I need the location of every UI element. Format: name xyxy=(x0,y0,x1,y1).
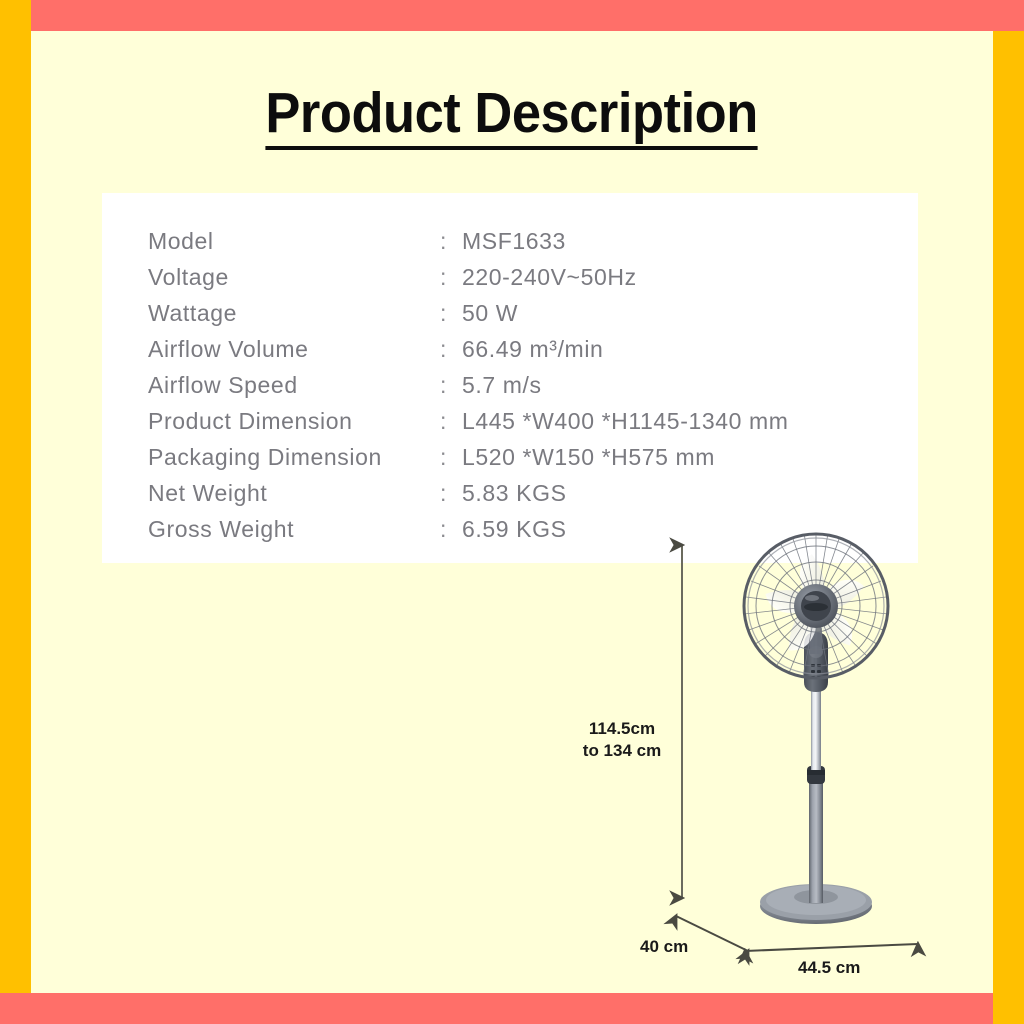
fan-head xyxy=(744,532,888,683)
spec-value: 50 W xyxy=(462,295,789,331)
spec-value: L520 *W150 *H575 mm xyxy=(462,439,789,475)
spec-label: Model xyxy=(148,223,440,259)
depth-dimension-label: 40 cm xyxy=(640,936,688,958)
spec-separator: : xyxy=(440,511,462,547)
frame-corner-bottom-left xyxy=(0,993,31,1024)
spec-value: 220-240V~50Hz xyxy=(462,259,789,295)
table-row: Packaging Dimension : L520 *W150 *H575 m… xyxy=(148,439,789,475)
frame-band-top xyxy=(0,0,1024,31)
spec-label: Packaging Dimension xyxy=(148,439,440,475)
spec-label: Net Weight xyxy=(148,475,440,511)
spec-separator: : xyxy=(440,295,462,331)
spec-separator: : xyxy=(440,439,462,475)
spec-separator: : xyxy=(440,475,462,511)
spec-separator: : xyxy=(440,403,462,439)
frame-corner-bottom-right xyxy=(993,993,1024,1024)
page-title-text: Product Description xyxy=(266,84,758,150)
table-row: Net Weight : 5.83 KGS xyxy=(148,475,789,511)
specification-card: Model : MSF1633 Voltage : 220-240V~50Hz … xyxy=(102,193,918,563)
spec-label: Airflow Speed xyxy=(148,367,440,403)
spec-separator: : xyxy=(440,223,462,259)
specification-table: Model : MSF1633 Voltage : 220-240V~50Hz … xyxy=(148,223,789,547)
page-title: Product Description xyxy=(0,84,1024,150)
product-description-page: Product Description Model : MSF1633 Volt… xyxy=(0,0,1024,1024)
table-row: Gross Weight : 6.59 KGS xyxy=(148,511,789,547)
spec-separator: : xyxy=(440,259,462,295)
spec-separator: : xyxy=(440,367,462,403)
frame-corner-top-right xyxy=(993,0,1024,31)
spec-separator: : xyxy=(440,331,462,367)
width-dimension-line xyxy=(745,944,918,951)
frame-corner-top-left xyxy=(0,0,31,31)
table-row: Wattage : 50 W xyxy=(148,295,789,331)
stand-fan-illustration xyxy=(716,528,916,928)
height-dimension-line1: 114.5cm xyxy=(589,719,655,738)
fan-pole-lower xyxy=(809,778,823,903)
spec-value: L445 *W400 *H1145-1340 mm xyxy=(462,403,789,439)
table-row: Model : MSF1633 xyxy=(148,223,789,259)
frame-band-bottom xyxy=(0,993,1024,1024)
spec-label: Airflow Volume xyxy=(148,331,440,367)
spec-value: 5.7 m/s xyxy=(462,367,789,403)
table-row: Airflow Volume : 66.49 m³/min xyxy=(148,331,789,367)
frame-band-right xyxy=(993,0,1024,1024)
spec-label: Product Dimension xyxy=(148,403,440,439)
frame-band-left xyxy=(0,0,31,1024)
spec-label: Wattage xyxy=(148,295,440,331)
spec-value: 66.49 m³/min xyxy=(462,331,789,367)
table-row: Voltage : 220-240V~50Hz xyxy=(148,259,789,295)
fan-pole-upper xyxy=(811,688,821,770)
spec-label: Gross Weight xyxy=(148,511,440,547)
height-dimension-line2: to 134 cm xyxy=(583,741,661,760)
height-dimension-label: 114.5cm to 134 cm xyxy=(574,718,670,762)
table-row: Product Dimension : L445 *W400 *H1145-13… xyxy=(148,403,789,439)
width-dimension-label: 44.5 cm xyxy=(798,957,860,979)
table-row: Airflow Speed : 5.7 m/s xyxy=(148,367,789,403)
spec-value: 5.83 KGS xyxy=(462,475,789,511)
spec-value: MSF1633 xyxy=(462,223,789,259)
fan-hub xyxy=(794,584,838,628)
spec-label: Voltage xyxy=(148,259,440,295)
